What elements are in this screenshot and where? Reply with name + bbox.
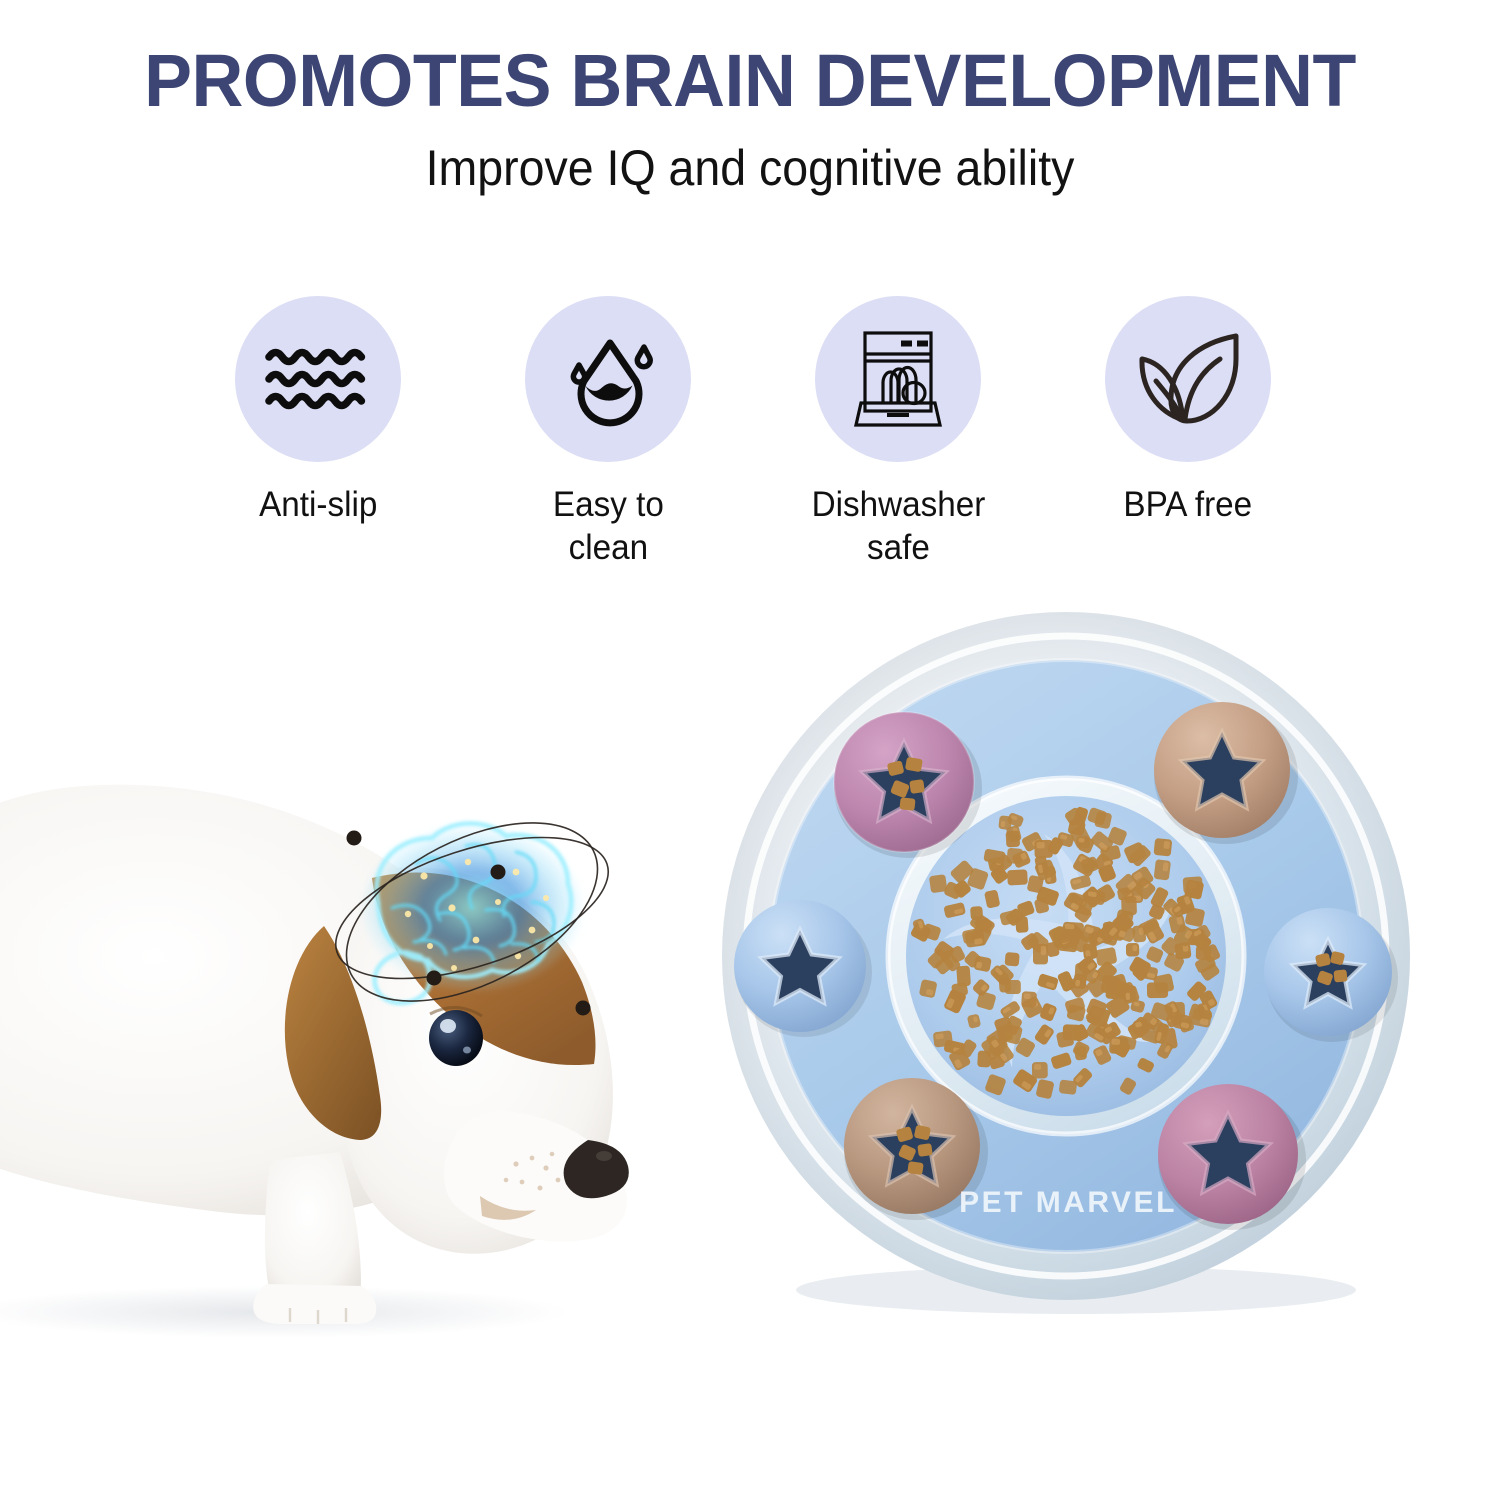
puppy-illustration [0,640,740,1380]
product-image: PET MARVEL [716,600,1416,1320]
feature-icon-circle [525,296,691,462]
feature-icon-circle [235,296,401,462]
feature-icon-circle [815,296,981,462]
feature-icon-circle [1105,296,1271,462]
feature-badge-row: Anti-slip Easy to clean [218,296,1288,576]
leaf-icon [1132,329,1244,429]
feature-easy-to-clean: Easy to clean [508,296,708,569]
slow-feeder-bowl: PET MARVEL [716,600,1416,1320]
feature-anti-slip: Anti-slip [218,296,418,527]
brand-label: PET MARVEL [959,1186,1177,1219]
feature-label: Dishwasher safe [811,484,985,569]
feature-label: Anti-slip [259,484,377,527]
waves-icon [265,343,371,415]
water-drop-icon [558,329,658,429]
dishwasher-icon [847,327,949,431]
puppy-photo [0,640,740,1380]
puppy-front-paw [253,1284,376,1324]
feature-bpa-free: BPA free [1088,296,1288,527]
page-title: PROMOTES BRAIN DEVELOPMENT [23,44,1478,118]
product-infographic: PROMOTES BRAIN DEVELOPMENT Improve IQ an… [0,0,1500,1500]
feature-dishwasher-safe: Dishwasher safe [798,296,998,569]
page-subtitle: Improve IQ and cognitive ability [53,140,1448,198]
puppy-eye [429,1010,483,1066]
feature-label: BPA free [1124,484,1253,527]
feature-label: Easy to clean [553,484,664,569]
